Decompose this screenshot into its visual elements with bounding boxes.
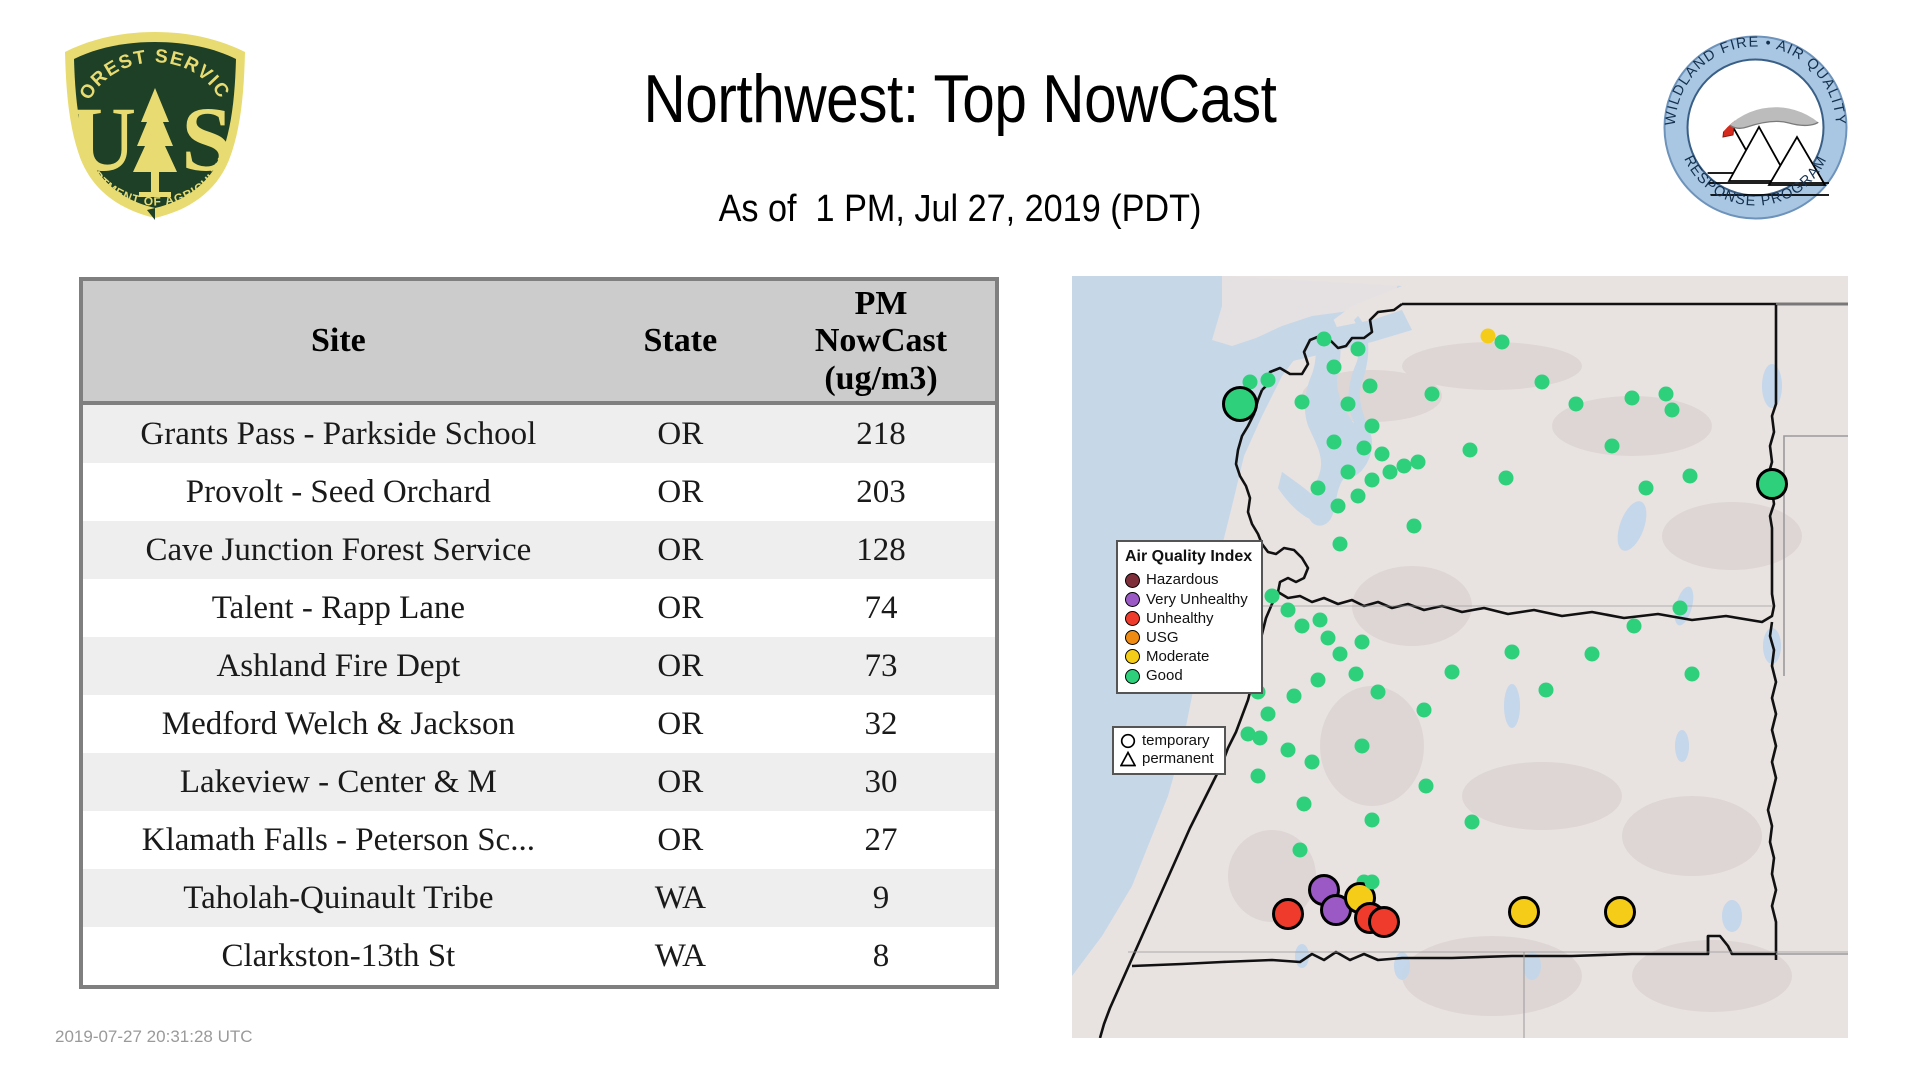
map-monitor-marker[interactable]: [1272, 898, 1304, 930]
table-row[interactable]: Medford Welch & JacksonOR32: [83, 695, 995, 753]
site-type-legend: temporary permanent: [1112, 726, 1226, 775]
map-monitor-marker[interactable]: [1604, 896, 1636, 928]
cell-state: WA: [594, 927, 767, 985]
map-monitor-marker[interactable]: [1407, 519, 1422, 534]
column-header-pm-nowcast[interactable]: PM NowCast (ug/m3): [767, 281, 995, 403]
map-monitor-marker[interactable]: [1317, 332, 1332, 347]
map-monitor-marker[interactable]: [1265, 589, 1280, 604]
table-body: Grants Pass - Parkside SchoolOR218Provol…: [83, 403, 995, 985]
map-monitor-marker[interactable]: [1357, 441, 1372, 456]
aqi-legend-label: Unhealthy: [1146, 609, 1214, 628]
cell-pm: 30: [767, 753, 995, 811]
cell-site: Grants Pass - Parkside School: [83, 403, 594, 463]
map-monitor-marker[interactable]: [1425, 387, 1440, 402]
northwest-aqi-map[interactable]: Air Quality Index HazardousVery Unhealth…: [1072, 276, 1848, 1038]
cell-site: Taholah-Quinault Tribe: [83, 869, 594, 927]
map-monitor-marker[interactable]: [1331, 499, 1346, 514]
legend-permanent: permanent: [1120, 750, 1214, 768]
aqi-legend-label: USG: [1146, 628, 1179, 647]
legend-permanent-label: permanent: [1142, 750, 1214, 768]
map-monitor-marker[interactable]: [1351, 342, 1366, 357]
map-monitor-marker[interactable]: [1463, 443, 1478, 458]
cell-pm: 74: [767, 579, 995, 637]
legend-temporary-label: temporary: [1142, 732, 1210, 750]
cell-pm: 27: [767, 811, 995, 869]
page-subtitle: As of 1 PM, Jul 27, 2019 (PDT): [96, 188, 1824, 231]
map-monitor-marker[interactable]: [1383, 465, 1398, 480]
cell-site: Talent - Rapp Lane: [83, 579, 594, 637]
map-monitor-marker[interactable]: [1411, 455, 1426, 470]
aqi-legend-item: USG: [1125, 628, 1252, 647]
top-nowcast-table: Site State PM NowCast (ug/m3) Grants Pas…: [83, 281, 995, 985]
map-monitor-marker[interactable]: [1281, 603, 1296, 618]
map-monitor-marker[interactable]: [1605, 439, 1620, 454]
map-monitor-marker[interactable]: [1535, 375, 1550, 390]
map-monitor-marker[interactable]: [1365, 813, 1380, 828]
top-nowcast-table-panel: Site State PM NowCast (ug/m3) Grants Pas…: [79, 277, 999, 989]
map-monitor-marker[interactable]: [1659, 387, 1674, 402]
column-header-site[interactable]: Site: [83, 281, 594, 403]
column-header-pm-line2: NowCast: [767, 322, 995, 359]
aqi-legend-dot-icon: [1125, 573, 1140, 588]
map-monitor-marker[interactable]: [1355, 635, 1370, 650]
table-row[interactable]: Cave Junction Forest ServiceOR128: [83, 521, 995, 579]
aqi-legend-dot-icon: [1125, 592, 1140, 607]
cell-state: OR: [594, 521, 767, 579]
map-monitor-marker[interactable]: [1365, 473, 1380, 488]
map-monitor-marker[interactable]: [1261, 373, 1276, 388]
table-row[interactable]: Taholah-Quinault TribeWA9: [83, 869, 995, 927]
map-monitor-marker[interactable]: [1305, 755, 1320, 770]
map-monitor-marker[interactable]: [1685, 667, 1700, 682]
aqi-legend-item: Moderate: [1125, 647, 1252, 666]
cell-pm: 9: [767, 869, 995, 927]
cell-site: Clarkston-13th St: [83, 927, 594, 985]
map-monitor-marker[interactable]: [1222, 386, 1258, 422]
column-header-pm-line1: PM: [767, 285, 995, 322]
aqi-legend-dot-icon: [1125, 669, 1140, 684]
aqi-legend-item: Unhealthy: [1125, 609, 1252, 628]
table-row[interactable]: Lakeview - Center & MOR30: [83, 753, 995, 811]
map-monitor-marker[interactable]: [1363, 379, 1378, 394]
legend-temporary: temporary: [1120, 732, 1214, 750]
map-monitor-marker[interactable]: [1465, 815, 1480, 830]
cell-state: OR: [594, 637, 767, 695]
map-monitor-marker[interactable]: [1241, 727, 1256, 742]
map-monitor-marker[interactable]: [1371, 685, 1386, 700]
map-monitor-marker[interactable]: [1683, 469, 1698, 484]
cell-state: OR: [594, 463, 767, 521]
cell-site: Medford Welch & Jackson: [83, 695, 594, 753]
map-monitor-marker[interactable]: [1375, 447, 1390, 462]
map-monitor-marker[interactable]: [1261, 707, 1276, 722]
map-monitor-marker[interactable]: [1445, 665, 1460, 680]
cell-site: Cave Junction Forest Service: [83, 521, 594, 579]
table-row[interactable]: Ashland Fire DeptOR73: [83, 637, 995, 695]
map-monitor-marker[interactable]: [1639, 481, 1654, 496]
map-monitor-marker[interactable]: [1627, 619, 1642, 634]
cell-state: OR: [594, 579, 767, 637]
map-monitor-marker[interactable]: [1341, 397, 1356, 412]
map-monitor-marker[interactable]: [1419, 779, 1434, 794]
table-row[interactable]: Provolt - Seed OrchardOR203: [83, 463, 995, 521]
map-monitor-marker[interactable]: [1311, 481, 1326, 496]
temporary-circle-icon: [1120, 732, 1136, 750]
map-monitor-marker[interactable]: [1351, 489, 1366, 504]
table-row[interactable]: Grants Pass - Parkside SchoolOR218: [83, 403, 995, 463]
map-monitor-marker[interactable]: [1287, 689, 1302, 704]
cell-pm: 73: [767, 637, 995, 695]
map-monitor-marker[interactable]: [1365, 419, 1380, 434]
cell-pm: 218: [767, 403, 995, 463]
map-monitor-marker[interactable]: [1397, 459, 1412, 474]
cell-site: Klamath Falls - Peterson Sc...: [83, 811, 594, 869]
map-monitor-marker[interactable]: [1333, 537, 1348, 552]
aqi-legend-item: Hazardous: [1125, 570, 1252, 589]
aqi-legend-dot-icon: [1125, 611, 1140, 626]
cell-pm: 128: [767, 521, 995, 579]
table-row[interactable]: Clarkston-13th StWA8: [83, 927, 995, 985]
map-monitor-marker[interactable]: [1569, 397, 1584, 412]
map-monitor-marker[interactable]: [1295, 619, 1310, 634]
map-monitor-marker[interactable]: [1539, 683, 1554, 698]
map-monitor-marker[interactable]: [1499, 471, 1514, 486]
cell-pm: 203: [767, 463, 995, 521]
cell-state: WA: [594, 869, 767, 927]
table-header-row: Site State PM NowCast (ug/m3): [83, 281, 995, 403]
map-monitor-marker[interactable]: [1368, 906, 1400, 938]
map-monitor-marker[interactable]: [1321, 631, 1336, 646]
map-monitor-marker[interactable]: [1481, 329, 1496, 344]
aqi-legend-title: Air Quality Index: [1125, 547, 1252, 567]
map-monitor-marker[interactable]: [1295, 395, 1310, 410]
aqi-legend-label: Very Unhealthy: [1146, 590, 1248, 609]
map-monitor-marker[interactable]: [1313, 613, 1328, 628]
map-monitor-marker[interactable]: [1495, 335, 1510, 350]
map-monitor-marker[interactable]: [1251, 769, 1266, 784]
aqi-legend-item: Very Unhealthy: [1125, 590, 1252, 609]
cell-site: Ashland Fire Dept: [83, 637, 594, 695]
permanent-triangle-icon: [1120, 750, 1136, 768]
cell-site: Lakeview - Center & M: [83, 753, 594, 811]
map-monitor-marker[interactable]: [1297, 797, 1312, 812]
map-monitor-marker[interactable]: [1365, 875, 1380, 890]
map-monitor-marker[interactable]: [1665, 403, 1680, 418]
aqi-legend-items: HazardousVery UnhealthyUnhealthyUSGModer…: [1125, 570, 1252, 685]
map-monitor-marker[interactable]: [1341, 465, 1356, 480]
aqi-legend: Air Quality Index HazardousVery Unhealth…: [1116, 540, 1263, 694]
table-row[interactable]: Klamath Falls - Peterson Sc...OR27: [83, 811, 995, 869]
map-monitor-marker[interactable]: [1293, 843, 1308, 858]
map-monitor-marker[interactable]: [1673, 601, 1688, 616]
cell-state: OR: [594, 695, 767, 753]
map-monitor-marker[interactable]: [1333, 647, 1348, 662]
table-row[interactable]: Talent - Rapp LaneOR74: [83, 579, 995, 637]
cell-state: OR: [594, 811, 767, 869]
cell-pm: 32: [767, 695, 995, 753]
map-monitor-marker[interactable]: [1625, 391, 1640, 406]
map-monitor-marker[interactable]: [1327, 435, 1342, 450]
cell-state: OR: [594, 403, 767, 463]
aqi-legend-label: Good: [1146, 666, 1183, 685]
aqi-legend-dot-icon: [1125, 649, 1140, 664]
map-monitor-marker[interactable]: [1281, 743, 1296, 758]
map-monitor-marker[interactable]: [1417, 703, 1432, 718]
page-title: Northwest: Top NowCast: [134, 60, 1785, 138]
map-monitor-marker[interactable]: [1505, 645, 1520, 660]
map-monitor-marker[interactable]: [1756, 468, 1788, 500]
map-monitor-marker[interactable]: [1349, 667, 1364, 682]
aqi-legend-item: Good: [1125, 666, 1252, 685]
footer-timestamp: 2019-07-27 20:31:28 UTC: [55, 1027, 253, 1047]
column-header-pm-line3: (ug/m3): [767, 360, 995, 397]
cell-site: Provolt - Seed Orchard: [83, 463, 594, 521]
aqi-legend-label: Hazardous: [1146, 570, 1219, 589]
cell-pm: 8: [767, 927, 995, 985]
map-monitor-marker[interactable]: [1355, 739, 1370, 754]
map-monitor-marker[interactable]: [1311, 673, 1326, 688]
map-monitor-marker[interactable]: [1508, 896, 1540, 928]
aqi-legend-label: Moderate: [1146, 647, 1209, 666]
table-header: Site State PM NowCast (ug/m3): [83, 281, 995, 403]
map-monitor-marker[interactable]: [1585, 647, 1600, 662]
column-header-state[interactable]: State: [594, 281, 767, 403]
cell-state: OR: [594, 753, 767, 811]
aqi-legend-dot-icon: [1125, 630, 1140, 645]
map-monitor-marker[interactable]: [1327, 360, 1342, 375]
